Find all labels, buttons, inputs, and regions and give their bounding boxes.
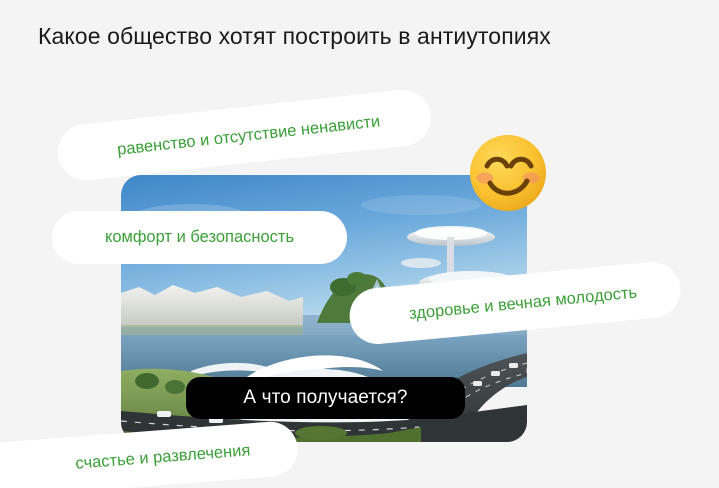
screenshot-stage: Какое общество хотят построить в антиуто…: [0, 0, 719, 488]
smiling-face-with-smiling-eyes-icon: [466, 131, 550, 215]
bubble-comfort: комфорт и безопасность: [52, 211, 347, 264]
caption-box: А что получается?: [186, 377, 465, 419]
bubble-health-label: здоровье и вечная молодость: [408, 283, 638, 323]
bubble-happiness: счастье и развлечения: [0, 420, 300, 488]
bubble-comfort-label: комфорт и безопасность: [105, 228, 294, 247]
bubble-equality: равенство и отсутствие ненависти: [55, 87, 434, 183]
caption-label: А что получается?: [243, 387, 407, 409]
page-title: Какое общество хотят построить в антиуто…: [38, 21, 551, 51]
bubble-happiness-label: счастье и развлечения: [75, 441, 251, 473]
smiling-face-emoji: [466, 131, 550, 215]
bubble-equality-label: равенство и отсутствие ненависти: [116, 112, 381, 159]
